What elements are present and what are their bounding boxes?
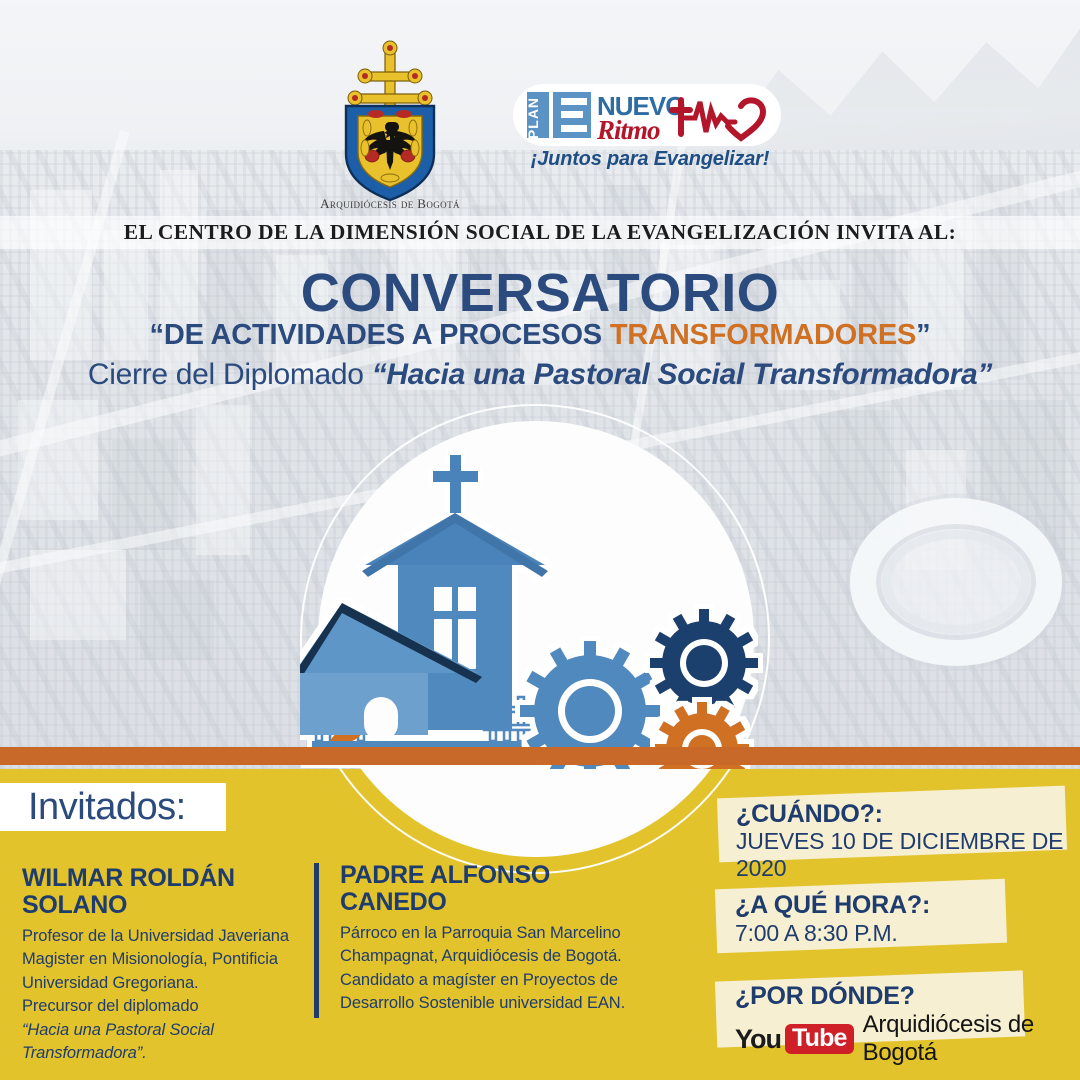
youtube-you-text: You <box>735 1026 781 1053</box>
speaker-bio-line: Párroco en la Parroquia San Marcelino <box>340 922 640 945</box>
youtube-icon[interactable]: You Tube <box>735 1024 854 1054</box>
diplomado-line: Cierre del Diplomado “Hacia una Pastoral… <box>0 358 1080 392</box>
speaker-divider <box>314 863 319 1018</box>
speaker-name: WILMAR ROLDÁN SOLANO <box>22 865 294 919</box>
speaker-bio-line: Profesor de la Universidad Javeriana <box>22 925 294 948</box>
svg-text:PLAN: PLAN <box>525 97 541 139</box>
speaker-bio-line: Precursor del diplomado <box>22 995 294 1018</box>
speaker-bio: Párroco en la Parroquia San Marcelino Ch… <box>340 922 640 1016</box>
diplomado-name: “Hacia una Pastoral Social Transformador… <box>372 358 992 391</box>
youtube-tube-text: Tube <box>785 1024 854 1054</box>
speaker-card-1: WILMAR ROLDÁN SOLANO Profesor de la Univ… <box>22 865 294 1066</box>
speaker-bio-italic: “Hacia una Pastoral Social Transformador… <box>22 1021 214 1062</box>
time-value: 7:00 A 8:30 P.M. <box>735 920 898 947</box>
archdiocese-coat-of-arms <box>310 36 470 216</box>
church-and-gears-illustration <box>300 425 800 775</box>
where-label: ¿POR DÓNDE? <box>735 982 915 1011</box>
svg-text:Ritmo: Ritmo <box>596 115 660 145</box>
speaker-bio-line: Champagnat, Arquidiócesis de Bogotá. <box>340 945 640 968</box>
invitation-line: EL CENTRO DE LA DIMENSIÓN SOCIAL DE LA E… <box>0 220 1080 245</box>
when-value: JUEVES 10 DE DICIEMBRE DE 2020 <box>736 828 1080 882</box>
speaker-bio-line: Universidad Gregoriana. <box>22 972 294 995</box>
diplomado-prefix: Cierre del Diplomado <box>88 358 372 391</box>
event-poster: Arquidiócesis de Bogotá PLAN NUEVO Ritmo… <box>0 0 1080 1080</box>
plan-nuevo-ritmo-logo: PLAN NUEVO Ritmo <box>513 84 781 151</box>
crest-caption: Arquidiócesis de Bogotá <box>280 196 500 212</box>
invitados-label: Invitados: <box>28 786 186 829</box>
speaker-bio: Profesor de la Universidad Javeriana Mag… <box>22 925 294 1066</box>
speaker-bio-line: Candidato a magíster en Proyectos de <box>340 969 640 992</box>
speaker-bio-line: Desarrollo Sostenible universidad EAN. <box>340 992 640 1015</box>
plan-slogan: ¡Juntos para Evangelizar! <box>500 148 800 171</box>
speaker-card-2: PADRE ALFONSO CANEDO Párroco en la Parro… <box>340 862 640 1016</box>
speaker-name: PADRE ALFONSO CANEDO <box>340 862 640 916</box>
subtitle-part-2: ” <box>916 319 930 351</box>
subtitle-highlight: TRANSFORMADORES <box>610 319 916 351</box>
time-label: ¿A QUÉ HORA?: <box>735 891 930 920</box>
page-title: CONVERSATORIO <box>0 262 1080 324</box>
subtitle-part-1: “DE ACTIVIDADES A PROCESOS <box>150 319 610 351</box>
when-label: ¿CUÁNDO?: <box>736 800 883 829</box>
speaker-bio-line: Magister en Misionología, Pontificia <box>22 948 294 971</box>
youtube-channel-row[interactable]: You Tube Arquidiócesis de Bogotá <box>735 1011 1080 1067</box>
orange-divider-band <box>0 747 1080 765</box>
youtube-channel-name: Arquidiócesis de Bogotá <box>863 1011 1080 1067</box>
subtitle: “DE ACTIVIDADES A PROCESOS TRANSFORMADOR… <box>0 319 1080 352</box>
